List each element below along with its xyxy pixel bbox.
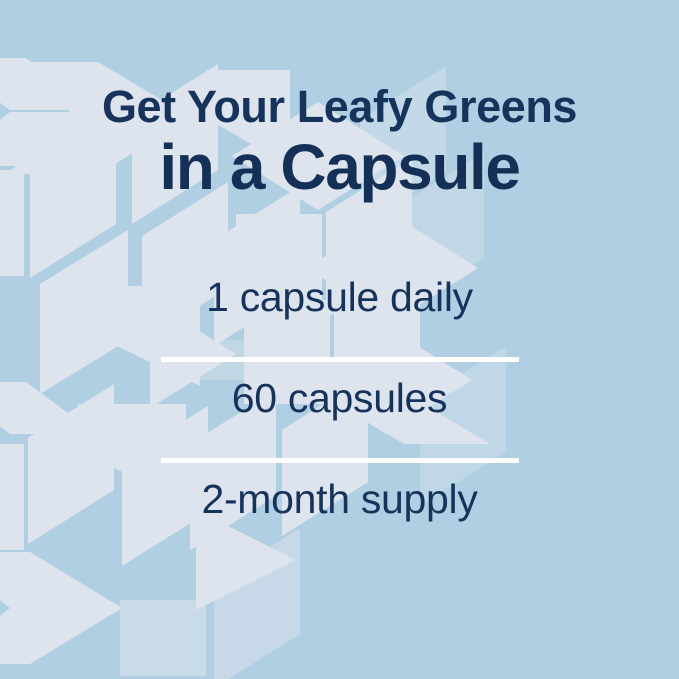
fact-dosage: 1 capsule daily	[0, 273, 679, 345]
panel-content: Get Your Leafy Greens in a Capsule 1 cap…	[0, 0, 679, 679]
fact-count: 60 capsules	[0, 374, 679, 446]
product-info-panel: Get Your Leafy Greens in a Capsule 1 cap…	[0, 0, 679, 679]
headline-line-1: Get Your Leafy Greens	[0, 82, 679, 132]
headline-line-2: in a Capsule	[0, 134, 679, 200]
fact-divider-1	[161, 357, 519, 362]
headline: Get Your Leafy Greens in a Capsule	[0, 82, 679, 200]
facts-list: 1 capsule daily 60 capsules 2-month supp…	[0, 273, 679, 547]
fact-supply-duration: 2-month supply	[0, 475, 679, 547]
fact-divider-2	[161, 458, 519, 463]
